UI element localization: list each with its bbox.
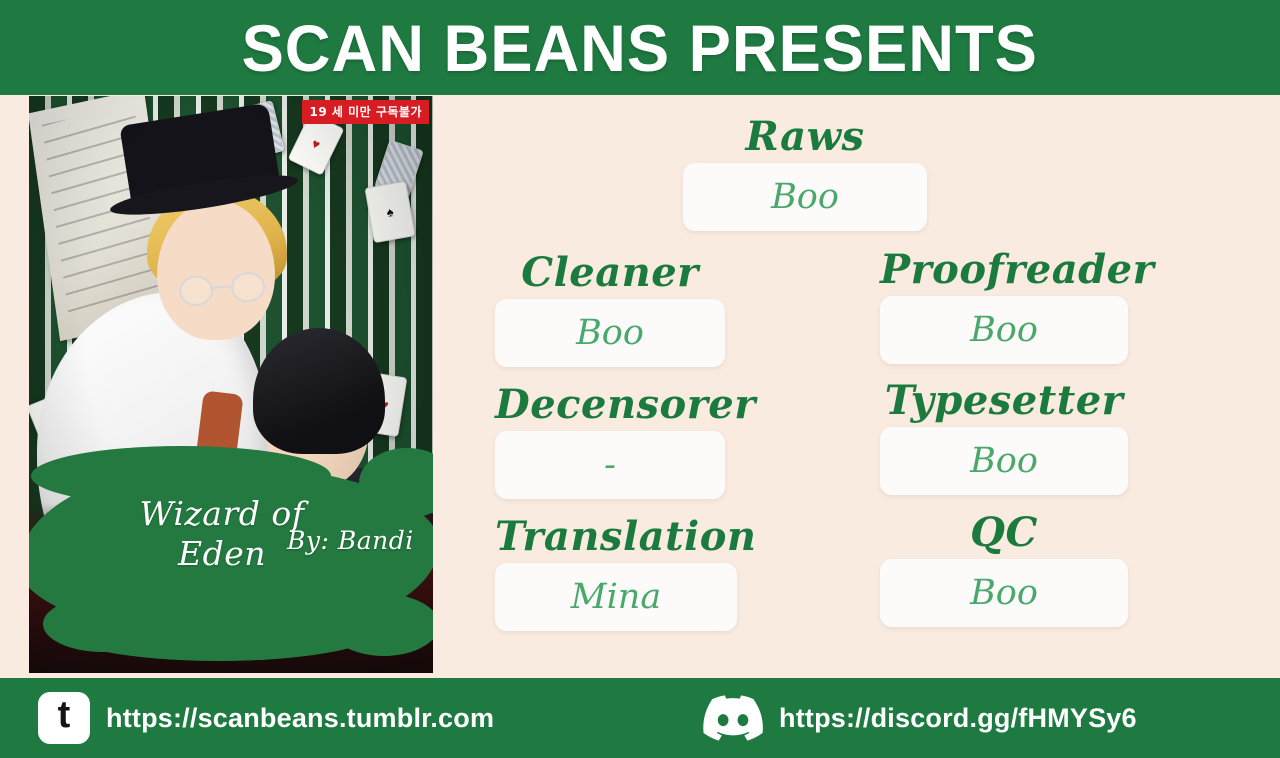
credits-page: SCAN BEANS PRESENTS ♥ ♠ ♥♥ ♣	[0, 0, 1280, 758]
credit-label-decensorer: Decensorer	[495, 385, 725, 425]
credit-value-typesetter: Boo	[970, 444, 1038, 479]
credit-value-cleaner: Boo	[576, 316, 644, 351]
main-body: ♥ ♠ ♥♥ ♣	[0, 95, 1280, 678]
credit-group-proofreader: Proofreader Boo	[880, 250, 1128, 364]
credit-group-cleaner: Cleaner Boo	[495, 253, 725, 367]
tumblr-link[interactable]: t https://scanbeans.tumblr.com	[38, 692, 494, 744]
credit-label-cleaner: Cleaner	[495, 253, 725, 293]
cover-artwork: ♥ ♠ ♥♥ ♣	[29, 96, 433, 673]
credit-label-qc: QC	[880, 513, 1128, 553]
credit-label-raws: Raws	[683, 117, 927, 157]
discord-link[interactable]: https://discord.gg/fHMYSy6	[703, 692, 1137, 744]
footer-banner: t https://scanbeans.tumblr.com https://d…	[0, 678, 1280, 758]
age-rating-badge: 19 세 미만 구독불가	[302, 100, 429, 124]
tumblr-url[interactable]: https://scanbeans.tumblr.com	[106, 703, 494, 734]
credit-box-cleaner[interactable]: Boo	[495, 299, 725, 367]
discord-url[interactable]: https://discord.gg/fHMYSy6	[779, 703, 1137, 734]
credit-group-raws: Raws Boo	[683, 117, 927, 231]
credits-grid: Raws Boo Cleaner Boo Decensorer - Transl…	[460, 95, 1280, 678]
credit-box-proofreader[interactable]: Boo	[880, 296, 1128, 364]
credit-group-decensorer: Decensorer -	[495, 385, 725, 499]
credit-label-proofreader: Proofreader	[880, 250, 1128, 290]
credit-box-raws[interactable]: Boo	[683, 163, 927, 231]
credit-box-typesetter[interactable]: Boo	[880, 427, 1128, 495]
credit-box-decensorer[interactable]: -	[495, 431, 725, 499]
credit-label-typesetter: Typesetter	[880, 381, 1128, 421]
credit-label-translation: Translation	[495, 517, 737, 557]
header-banner: SCAN BEANS PRESENTS	[0, 0, 1280, 95]
page-title: SCAN BEANS PRESENTS	[242, 15, 1038, 81]
credit-value-raws: Boo	[771, 180, 839, 215]
credit-group-translation: Translation Mina	[495, 517, 737, 631]
credit-box-qc[interactable]: Boo	[880, 559, 1128, 627]
credit-group-typesetter: Typesetter Boo	[880, 381, 1128, 495]
tumblr-glyph: t	[58, 696, 71, 734]
credit-value-proofreader: Boo	[970, 313, 1038, 348]
credit-value-translation: Mina	[571, 580, 661, 615]
credit-group-qc: QC Boo	[880, 513, 1128, 627]
tumblr-icon[interactable]: t	[38, 692, 90, 744]
discord-icon[interactable]	[703, 695, 763, 741]
credit-value-decensorer: -	[604, 448, 616, 483]
credit-value-qc: Boo	[970, 576, 1038, 611]
credit-box-translation[interactable]: Mina	[495, 563, 737, 631]
cover-author: By: Bandi	[287, 526, 414, 555]
